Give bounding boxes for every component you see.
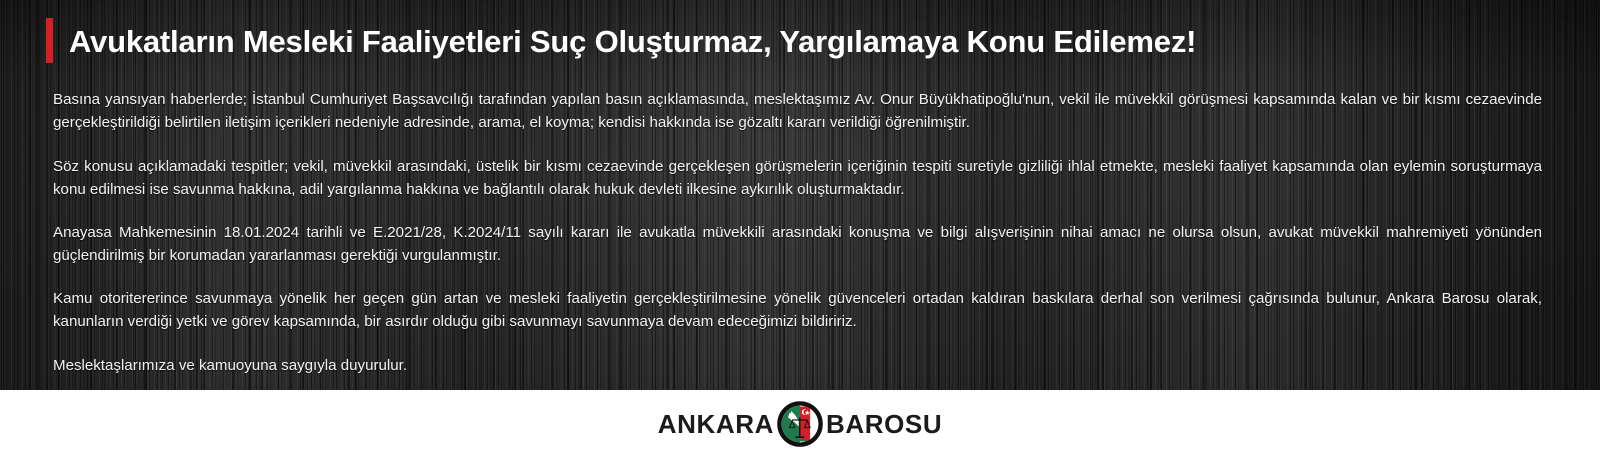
press-release-poster: Avukatların Mesleki Faaliyetleri Suç Olu…	[0, 0, 1600, 458]
ankara-barosu-emblem-icon	[777, 401, 823, 447]
logo-word-right: BAROSU	[826, 409, 942, 440]
logo-word-left: ANKARA	[658, 409, 774, 440]
footer-bar: ANKARA BAROSU	[0, 390, 1600, 458]
paragraph-4: Kamu otoritererince savunmaya yönelik he…	[53, 288, 1554, 334]
ankara-barosu-logo: ANKARA BAROSU	[658, 401, 943, 447]
body-copy: Basına yansıyan haberlerde; İstanbul Cum…	[46, 89, 1554, 377]
accent-bar	[46, 18, 53, 63]
headline-row: Avukatların Mesleki Faaliyetleri Suç Olu…	[46, 18, 1554, 63]
paragraph-5: Meslektaşlarımıza ve kamuoyuna saygıyla …	[53, 355, 1554, 378]
poster-content: Avukatların Mesleki Faaliyetleri Suç Olu…	[0, 0, 1600, 378]
paragraph-2: Söz konusu açıklamadaki tespitler; vekil…	[53, 156, 1554, 202]
paragraph-1: Basına yansıyan haberlerde; İstanbul Cum…	[53, 89, 1554, 135]
paragraph-3: Anayasa Mahkemesinin 18.01.2024 tarihli …	[53, 222, 1554, 268]
page-title: Avukatların Mesleki Faaliyetleri Suç Olu…	[69, 18, 1196, 63]
